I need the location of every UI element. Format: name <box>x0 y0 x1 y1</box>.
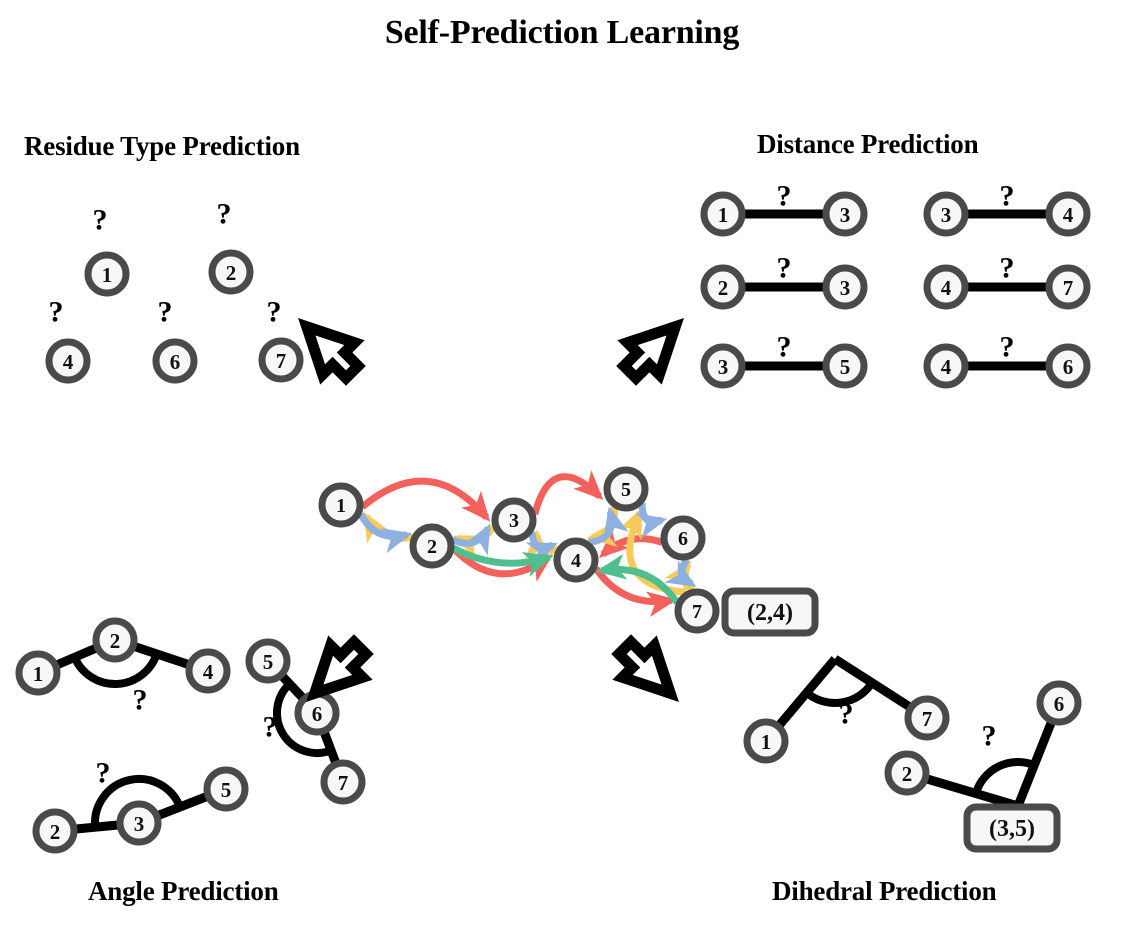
node-label-angle-1-2-4-vertex: 2 <box>110 629 121 653</box>
arrow-to-dihedral-outline <box>609 632 686 709</box>
angle-question-mark-2-3-5: ? <box>96 757 111 790</box>
node-label-graph-1: 1 <box>336 495 346 517</box>
graph-edge-3-to-4-blue <box>532 532 553 548</box>
distance-question-mark-3-5: ? <box>777 331 792 364</box>
node-label-graph-2: 2 <box>427 536 437 558</box>
node-label-dihedral-group-1-end-b: 7 <box>922 707 933 731</box>
arrow-to-angle <box>299 632 376 709</box>
dihedral-question-mark-group-1: ? <box>839 698 854 731</box>
node-label-distance-3-4-b: 4 <box>1063 203 1074 227</box>
residue-question-mark-2: ? <box>217 198 232 231</box>
arrow-to-residue-outline <box>291 311 368 388</box>
distance-question-mark-4-6: ? <box>1000 331 1015 364</box>
arrow-to-distance-outline <box>614 311 691 388</box>
graph-edge-3-to-5-red <box>535 477 600 515</box>
distance-question-mark-3-4: ? <box>1000 180 1015 213</box>
node-label-residue-6: 6 <box>170 350 181 374</box>
node-label-distance-4-6-a: 4 <box>941 355 952 379</box>
node-label-angle-1-2-4-c: 4 <box>203 660 214 684</box>
node-label-distance-3-4-a: 3 <box>941 203 952 227</box>
graph-edge-1-to-3-red <box>362 481 486 518</box>
node-label-distance-3-5-b: 5 <box>840 355 851 379</box>
residue-question-mark-6: ? <box>158 296 173 329</box>
angle-question-mark-1-2-4: ? <box>133 684 148 717</box>
node-label-dihedral-group-1-end-a: 1 <box>761 730 772 754</box>
node-label-angle-5-6-7-vertex: 6 <box>312 702 323 726</box>
node-label-distance-2-3-b: 3 <box>840 276 851 300</box>
distance-question-mark-2-3: ? <box>777 252 792 285</box>
node-label-dihedral-group-2-end-b: 6 <box>1054 692 1065 716</box>
diagram-svg: ?1?2?4?6?7?13?23?35?34?47?46?142?576?253… <box>0 0 1124 943</box>
node-label-residue-7: 7 <box>276 349 287 373</box>
node-label-graph-4: 4 <box>571 550 581 572</box>
distance-question-mark-1-3: ? <box>777 180 792 213</box>
node-label-angle-5-6-7-c: 7 <box>338 771 349 795</box>
prediction-tasks-layer: ?1?2?4?6?7?13?23?35?34?47?46?142?576?253… <box>19 180 1087 851</box>
diagram-canvas: Self-Prediction Learning Residue Type Pr… <box>0 0 1124 943</box>
residue-question-mark-1: ? <box>93 204 108 237</box>
node-label-distance-3-5-a: 3 <box>718 355 729 379</box>
node-label-distance-4-7-b: 7 <box>1063 276 1074 300</box>
distance-question-mark-4-7: ? <box>1000 252 1015 285</box>
distance-prediction-group: ?13?23?35?34?47?46 <box>704 180 1087 386</box>
dihedral-question-mark-group-2: ? <box>982 720 997 753</box>
residue-type-prediction-group: ?1?2?4?6?7 <box>49 198 301 381</box>
node-label-angle-2-3-5-a: 2 <box>50 820 61 844</box>
arrow-to-distance <box>614 311 691 388</box>
node-label-graph-5: 5 <box>621 479 631 501</box>
node-label-angle-2-3-5-c: 5 <box>221 778 232 802</box>
arrow-to-residue <box>291 311 368 388</box>
node-label-residue-2: 2 <box>226 261 237 285</box>
dihedral-box-label-group-1: (2,4) <box>747 600 793 626</box>
node-label-angle-2-3-5-vertex: 3 <box>134 812 145 836</box>
arrow-to-angle-outline <box>299 632 376 709</box>
dihedral-prediction-group: ?17(2,4)?26(3,5) <box>725 591 1078 849</box>
node-label-residue-1: 1 <box>102 263 113 287</box>
node-label-residue-4: 4 <box>63 350 74 374</box>
residue-question-mark-4: ? <box>49 296 64 329</box>
node-label-angle-1-2-4-a: 1 <box>33 662 44 686</box>
node-label-distance-4-6-b: 6 <box>1063 355 1074 379</box>
node-label-distance-1-3-b: 3 <box>840 203 851 227</box>
residue-question-mark-7: ? <box>267 296 282 329</box>
node-label-distance-1-3-a: 1 <box>718 203 729 227</box>
node-label-angle-5-6-7-a: 5 <box>263 650 274 674</box>
node-label-dihedral-group-2-end-a: 2 <box>902 762 913 786</box>
node-label-graph-6: 6 <box>678 528 688 550</box>
graph-edge-5-to-6-blue <box>642 503 662 521</box>
dihedral-box-label-group-2: (3,5) <box>989 816 1035 842</box>
graph-edge-4-to-5-blue <box>588 511 611 542</box>
node-label-distance-4-7-a: 4 <box>941 276 952 300</box>
angle-question-mark-5-6-7: ? <box>263 711 278 744</box>
arrow-to-dihedral <box>609 632 686 709</box>
angle-prediction-group: ?142?576?253 <box>19 621 362 850</box>
node-label-graph-3: 3 <box>509 510 519 532</box>
node-label-distance-2-3-a: 2 <box>718 276 729 300</box>
node-label-graph-7: 7 <box>692 601 702 623</box>
